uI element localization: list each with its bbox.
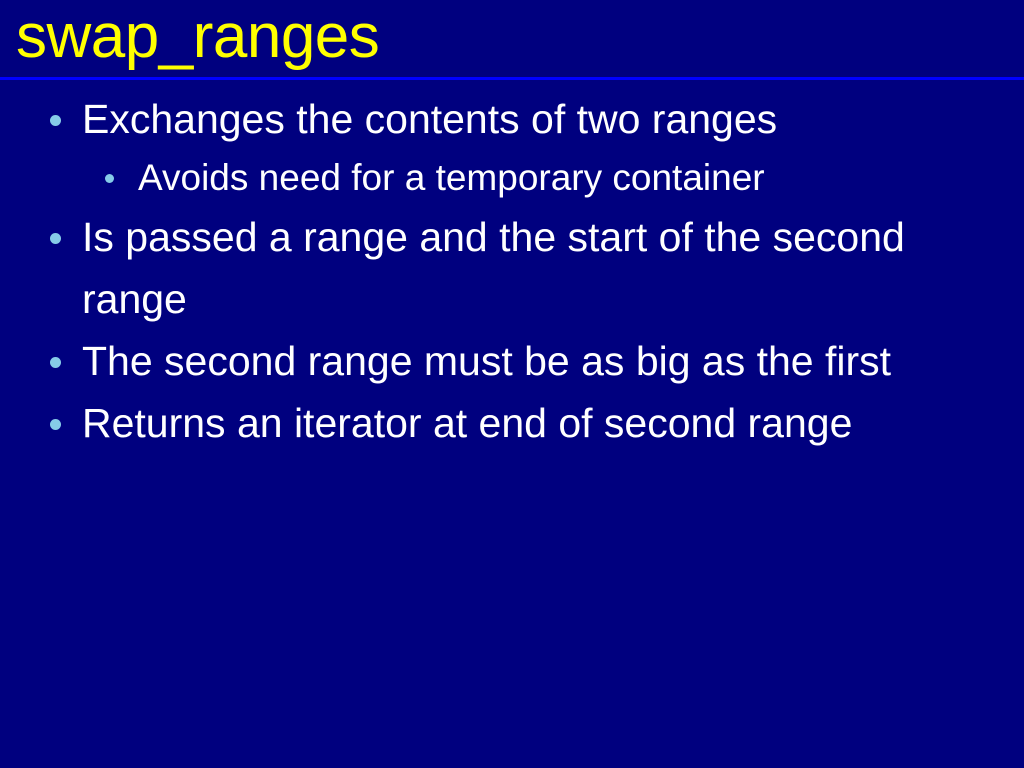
slide-body: Exchanges the contents of two ranges Avo…	[0, 88, 1024, 454]
bullet-text: Returns an iterator at end of second ran…	[82, 400, 852, 446]
title-divider	[0, 77, 1024, 80]
list-item: Returns an iterator at end of second ran…	[0, 392, 1024, 454]
bullet-list-level-2: Avoids need for a temporary container	[82, 150, 984, 206]
list-item: The second range must be as big as the f…	[0, 330, 1024, 392]
bullet-text: Exchanges the contents of two ranges	[82, 96, 777, 142]
bullet-dot-icon	[50, 233, 61, 244]
list-item: Avoids need for a temporary container	[82, 150, 984, 206]
page-title: swap_ranges	[16, 0, 379, 76]
bullet-dot-icon	[50, 115, 61, 126]
bullet-dot-icon	[50, 357, 61, 368]
bullet-text: The second range must be as big as the f…	[82, 338, 891, 384]
bullet-dot-icon	[50, 419, 61, 430]
bullet-dot-icon	[105, 174, 114, 183]
list-item: Is passed a range and the start of the s…	[0, 206, 1024, 330]
bullet-list-level-1: Exchanges the contents of two ranges Avo…	[0, 88, 1024, 454]
slide: swap_ranges Exchanges the contents of tw…	[0, 0, 1024, 768]
bullet-text: Is passed a range and the start of the s…	[82, 214, 905, 322]
bullet-text: Avoids need for a temporary container	[138, 157, 765, 198]
list-item: Exchanges the contents of two ranges Avo…	[0, 88, 1024, 206]
